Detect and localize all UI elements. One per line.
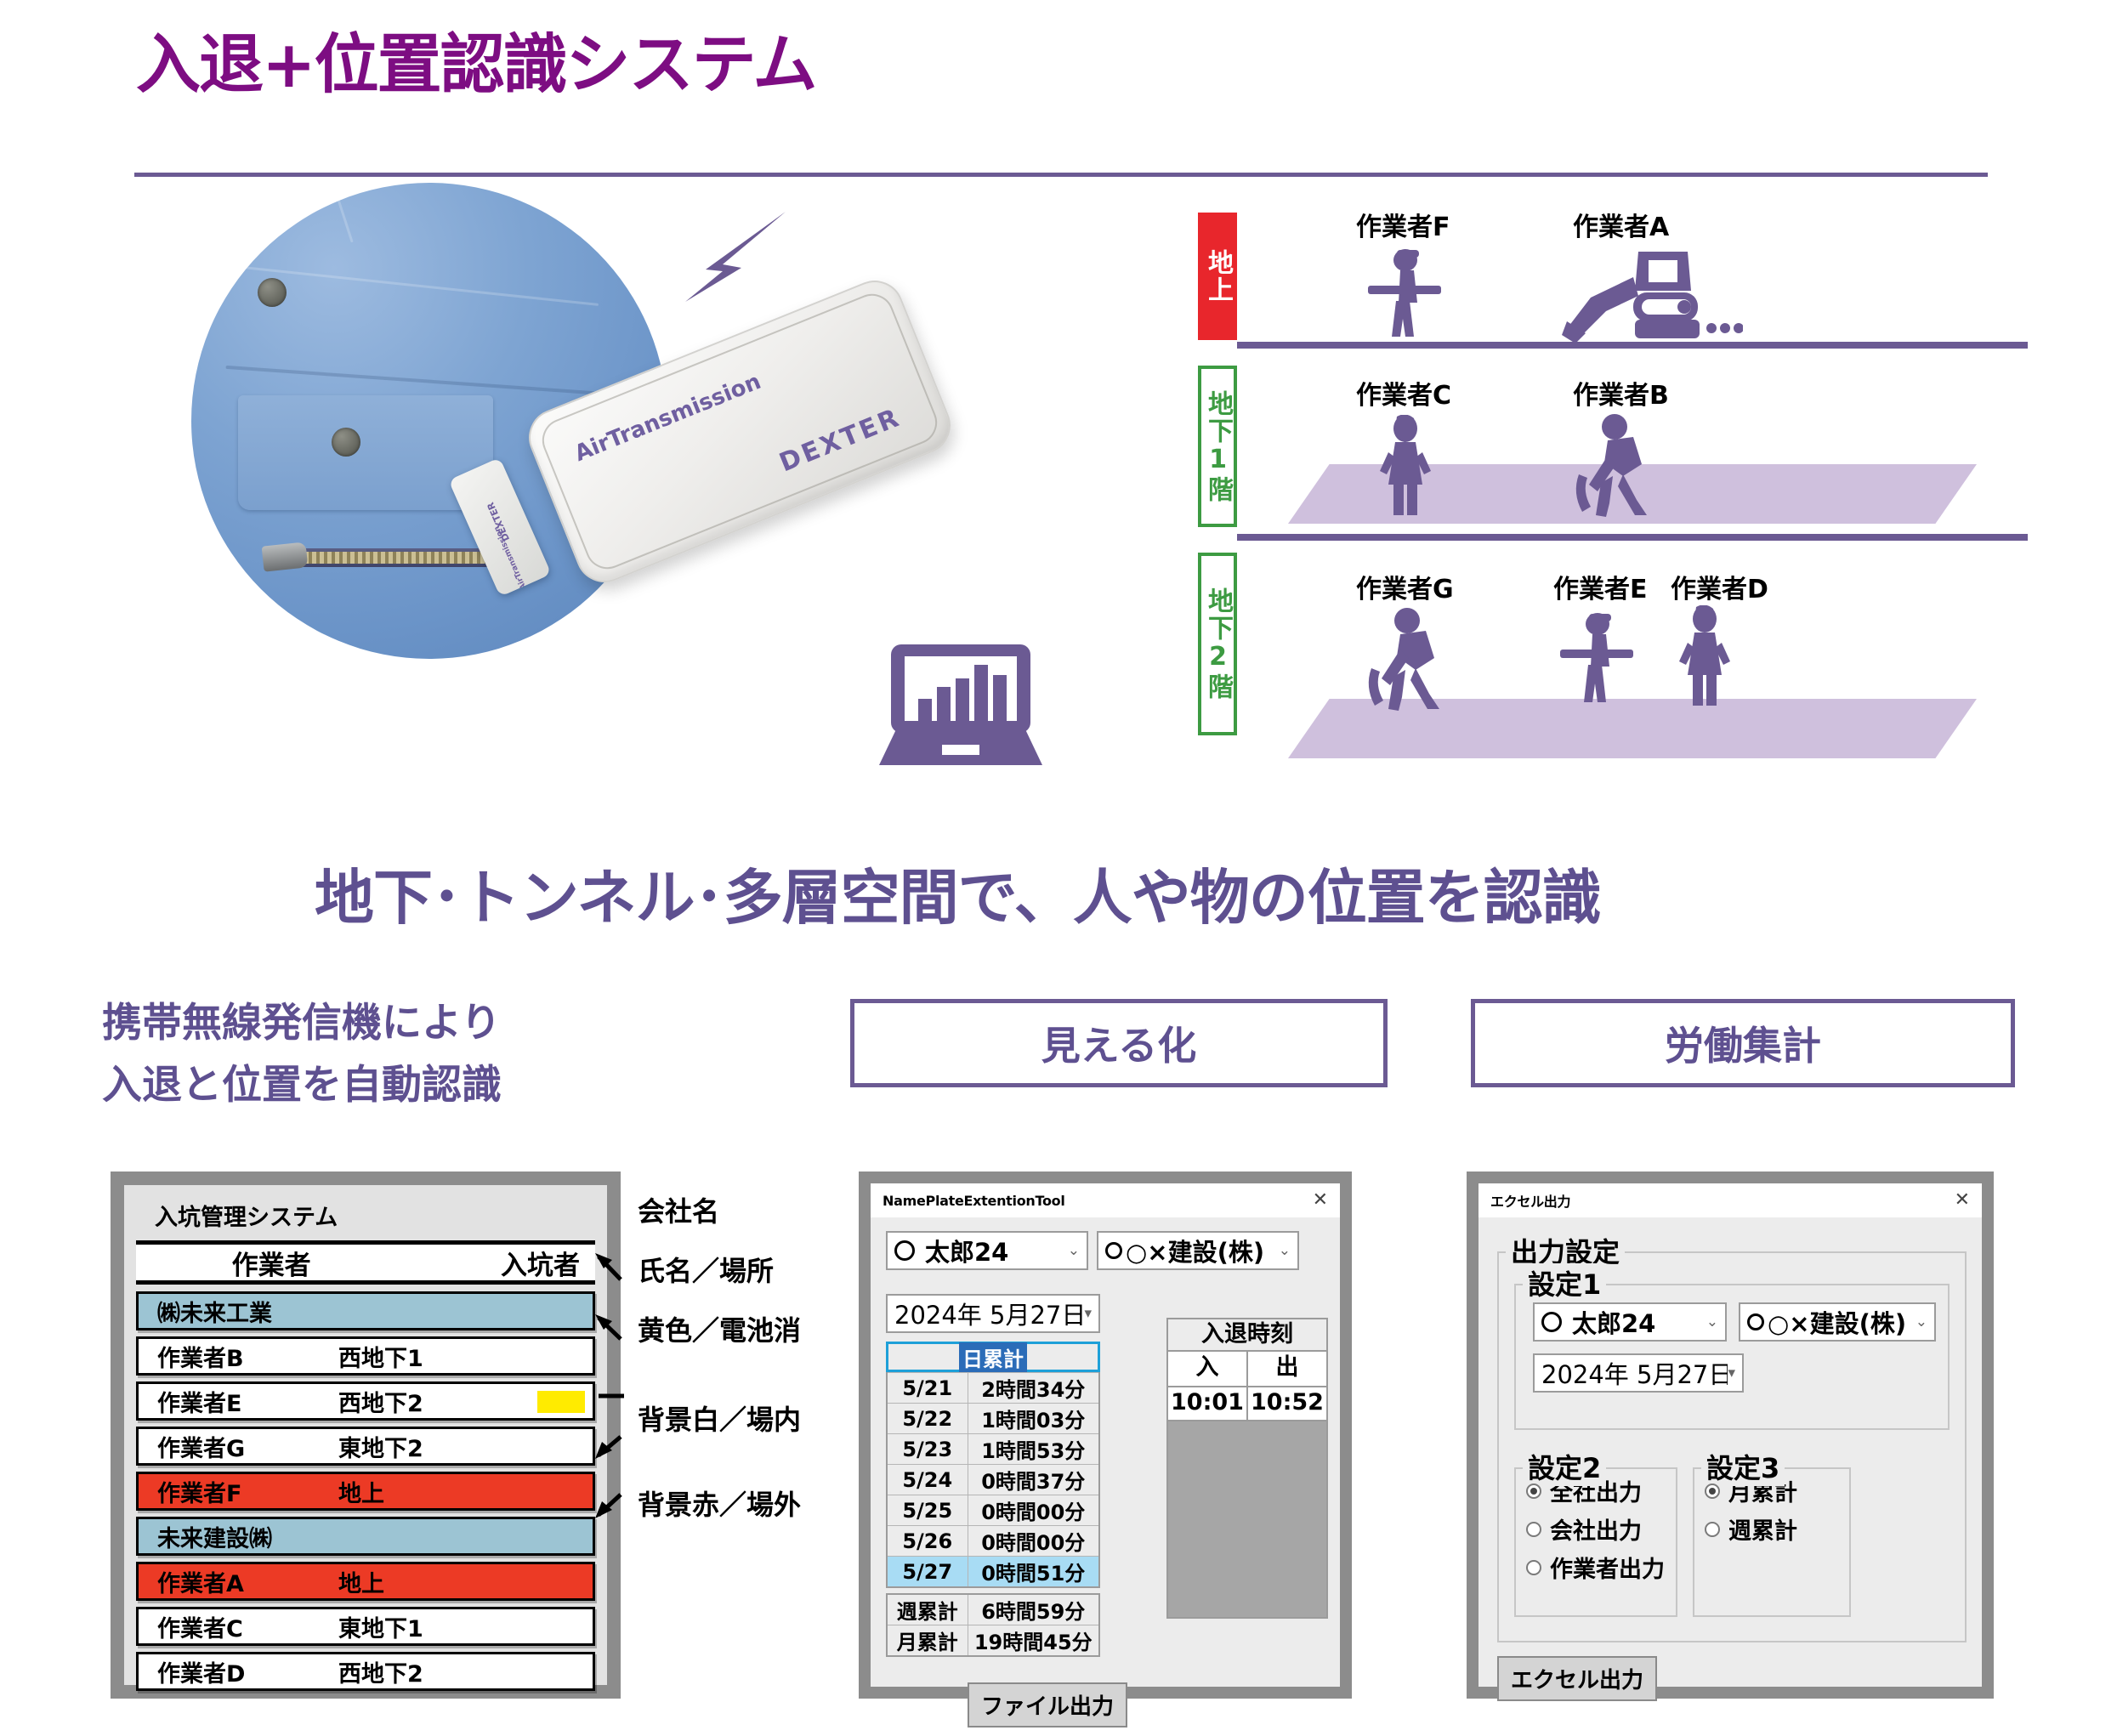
worker-label-d: 作業者D: [1671, 568, 1768, 605]
worker-name: 作業者C: [139, 1610, 338, 1643]
close-icon[interactable]: ✕: [1955, 1191, 1970, 1210]
worker-figure-g-icon: [1363, 605, 1465, 712]
left-section-heading: 携帯無線発信機により 入退と位置を自動認識: [102, 993, 502, 1117]
chevron-down-icon: ⌄: [1068, 1242, 1080, 1259]
io-col-in: 入: [1168, 1352, 1248, 1386]
value-cell: 2時間34分: [968, 1373, 1099, 1404]
company-name: 未来建設㈱: [139, 1520, 272, 1553]
list-item[interactable]: 5/212時間34分: [887, 1373, 1099, 1404]
close-icon[interactable]: ✕: [1313, 1191, 1328, 1210]
radio-option-company[interactable]: 会社出力: [1526, 1512, 1676, 1546]
day-cell: 5/23: [887, 1434, 968, 1465]
weekly-total-label: 週累計: [887, 1594, 968, 1625]
floor-divider-2: [1237, 534, 2028, 541]
worker-location: 西地下2: [338, 1385, 493, 1418]
radio-icon: [1526, 1522, 1541, 1537]
battery-empty-flag: [537, 1391, 585, 1413]
excel-company-value: ○×建設(株): [1768, 1304, 1916, 1340]
company-select-value: ○×建設(株): [1126, 1233, 1279, 1268]
day-cell: 5/22: [887, 1404, 968, 1434]
value-cell: 0時間51分: [968, 1557, 1099, 1588]
wireless-signal-bolt-icon: [627, 208, 789, 327]
table-row[interactable]: 未来建設㈱: [136, 1517, 595, 1556]
date-select[interactable]: 2024年 5月27日 ▾: [886, 1294, 1100, 1333]
main-caption: 地下･トンネル･多層空間で、人や物の位置を認識: [315, 850, 1601, 936]
worker-figure-e-icon: [1552, 612, 1645, 707]
tag-air-label: AirTransmission: [486, 509, 536, 597]
group-setting2-label: 設定2: [1523, 1447, 1606, 1486]
group-setting2: 設定2 全社出力 会社出力 作業者出力: [1514, 1467, 1677, 1617]
nameplate-tool-dialog: NamePlateExtentionTool ✕ 太郎24 ⌄ ○×建設(株) …: [859, 1172, 1352, 1699]
left-heading-line1: 携帯無線発信機により: [102, 993, 502, 1055]
worker-location: 西地下2: [338, 1655, 493, 1688]
list-item[interactable]: 5/221時間03分: [887, 1404, 1099, 1434]
entry-header-worker: 作業者: [141, 1244, 401, 1282]
entry-header-entrant: 入坑者: [401, 1244, 590, 1282]
value-cell: 0時間00分: [968, 1526, 1099, 1557]
table-row[interactable]: 作業者F 地上: [136, 1472, 595, 1511]
radio-circle-icon: [1541, 1312, 1562, 1332]
io-in-value: 10:01: [1168, 1387, 1248, 1420]
worker-select-value: 太郎24: [925, 1233, 1068, 1268]
file-output-button[interactable]: ファイル出力: [968, 1682, 1127, 1727]
excel-date-select[interactable]: 2024年 5月27日 ▾: [1533, 1353, 1744, 1393]
list-item[interactable]: 5/240時間37分: [887, 1465, 1099, 1495]
worker-select[interactable]: 太郎24 ⌄: [886, 1231, 1088, 1270]
day-cell: 5/27: [887, 1557, 968, 1588]
radio-label: 会社出力: [1550, 1512, 1642, 1546]
chevron-down-icon: ⌄: [1916, 1313, 1927, 1330]
annotation-company-name: 会社名: [638, 1190, 719, 1229]
radio-icon: [1526, 1484, 1541, 1499]
io-empty-area: [1166, 1421, 1328, 1619]
entry-management-panel: 入坑管理システム 作業者 入坑者 ㈱未来工業 作業者B 西地下1 作業者E 西地…: [111, 1172, 621, 1699]
table-row[interactable]: 作業者A 地上: [136, 1562, 595, 1601]
group-setting1: 設定1 太郎24 ⌄ ○×建設(株) ⌄: [1514, 1284, 1950, 1430]
section-box-visualization: 見える化: [850, 999, 1388, 1087]
worker-figure-b-icon: [1570, 411, 1672, 519]
excel-export-button[interactable]: エクセル出力: [1497, 1656, 1657, 1701]
group-setting1-label: 設定1: [1523, 1263, 1606, 1302]
nameplate-title-bar: NamePlateExtentionTool ✕: [871, 1183, 1340, 1217]
table-row[interactable]: 作業者C 東地下1: [136, 1607, 595, 1646]
radio-circle-icon: [894, 1240, 915, 1261]
monthly-total-label: 月累計: [887, 1625, 968, 1657]
day-cell: 5/21: [887, 1373, 968, 1404]
list-item[interactable]: 5/250時間00分: [887, 1495, 1099, 1526]
annotation-red-outside: 背景赤／場外: [638, 1484, 801, 1523]
laptop-chart-icon: [859, 638, 1063, 774]
daily-header-label: 日累計: [959, 1342, 1027, 1372]
worker-figure-d-icon: [1662, 605, 1747, 709]
value-cell: 0時間37分: [968, 1465, 1099, 1495]
list-item[interactable]: 5/260時間00分: [887, 1526, 1099, 1557]
excel-worker-value: 太郎24: [1572, 1304, 1706, 1340]
company-select[interactable]: ○×建設(株) ⌄: [1097, 1231, 1299, 1270]
device-brand-label: DEXTER: [775, 403, 905, 479]
section-box-labor-totals: 労働集計: [1471, 999, 2015, 1087]
worker-label-b: 作業者B: [1573, 374, 1669, 411]
worker-name: 作業者A: [139, 1565, 338, 1598]
worker-name: 作業者D: [139, 1655, 338, 1688]
company-name: ㈱未来工業: [139, 1295, 272, 1328]
excel-title-bar: エクセル出力 ✕: [1478, 1183, 1982, 1217]
table-row[interactable]: 作業者G 東地下2: [136, 1427, 595, 1466]
totals-row: 週累計6時間59分: [887, 1594, 1099, 1625]
entry-table-header: 作業者 入坑者: [136, 1240, 595, 1285]
worker-label-f: 作業者F: [1356, 206, 1450, 243]
floor-tag-ground: 地上: [1198, 213, 1237, 340]
chevron-down-icon: ▾: [1728, 1364, 1735, 1381]
worker-label-a: 作業者A: [1573, 206, 1669, 243]
radio-circle-icon: [1747, 1313, 1764, 1330]
small-transmitter-tag: DEXTER AirTransmission: [448, 457, 551, 597]
io-out-value: 10:52: [1248, 1387, 1326, 1420]
table-row[interactable]: ㈱未来工業: [136, 1291, 595, 1330]
value-cell: 1時間53分: [968, 1434, 1099, 1465]
floor-tag-b2: 地下2階: [1198, 553, 1237, 735]
daily-totals-table[interactable]: 日累計 5/212時間34分 5/221時間03分 5/231時間53分 5/2…: [886, 1342, 1100, 1657]
worker-figure-f-icon: [1356, 248, 1458, 342]
radio-icon: [1705, 1484, 1720, 1499]
radio-circle-icon: [1105, 1242, 1122, 1259]
worker-label-e: 作業者E: [1553, 568, 1648, 605]
worker-name: 作業者F: [139, 1475, 338, 1508]
excavator-icon: [1560, 245, 1743, 345]
worker-location: 東地下2: [338, 1430, 493, 1463]
radio-label: 作業者出力: [1550, 1551, 1665, 1584]
annotation-yellow-battery: 黄色／電池消: [638, 1309, 801, 1348]
worker-label-c: 作業者C: [1356, 374, 1451, 411]
zipper-pull: [262, 542, 309, 571]
worker-name: 作業者E: [139, 1385, 338, 1418]
list-item-selected[interactable]: 5/270時間51分: [887, 1557, 1099, 1588]
value-cell: 1時間03分: [968, 1404, 1099, 1434]
group-setting3-label: 設定3: [1701, 1447, 1785, 1486]
snap-button-top: [258, 278, 287, 307]
worker-name: 作業者B: [139, 1340, 338, 1373]
day-cell: 5/26: [887, 1526, 968, 1557]
date-select-value: 2024年 5月27日: [894, 1296, 1084, 1331]
weekly-total-value: 6時間59分: [968, 1594, 1099, 1625]
radio-label: 週累計: [1728, 1512, 1797, 1546]
left-heading-line2: 入退と位置を自動認識: [102, 1055, 502, 1117]
entry-system-title: 入坑管理システム: [136, 1194, 595, 1240]
day-cell: 5/24: [887, 1465, 968, 1495]
radio-icon: [1705, 1522, 1720, 1537]
totals-row: 月累計19時間45分: [887, 1625, 1099, 1657]
group-output-settings: 出力設定 設定1 太郎24 ⌄ ○×建設(株): [1497, 1251, 1967, 1642]
worker-figure-c-icon: [1363, 415, 1448, 519]
page-title: 入退+位置認識システム: [136, 32, 815, 97]
value-cell: 0時間00分: [968, 1495, 1099, 1526]
group-setting3: 設定3 月累計 週累計: [1693, 1467, 1851, 1617]
chevron-down-icon: ⌄: [1706, 1313, 1718, 1330]
excel-worker-select[interactable]: 太郎24 ⌄: [1533, 1302, 1727, 1342]
excel-output-dialog: エクセル出力 ✕ 出力設定 設定1 太郎24 ⌄: [1467, 1172, 1994, 1699]
entry-table-rows: ㈱未来工業 作業者B 西地下1 作業者E 西地下2 作業者G 東地下2 作業者F: [136, 1291, 595, 1691]
io-table-title: 入退時刻: [1166, 1318, 1328, 1352]
annotation-white-inside: 背景白／場内: [638, 1398, 801, 1438]
daily-totals-header: 日累計: [886, 1342, 1100, 1372]
io-time-table: 入退時刻 入 出 10:01 10:52: [1166, 1318, 1328, 1619]
annotation-name-location: 氏名／場所: [638, 1250, 774, 1289]
title-divider: [134, 173, 1988, 177]
radio-option-worker[interactable]: 作業者出力: [1526, 1551, 1676, 1584]
worker-location: 地上: [338, 1475, 493, 1508]
table-row[interactable]: 作業者E 西地下2: [136, 1381, 595, 1421]
excel-window-title: エクセル出力: [1490, 1190, 1570, 1211]
worker-location: 地上: [338, 1565, 493, 1598]
table-row[interactable]: 作業者B 西地下1: [136, 1336, 595, 1376]
monthly-total-value: 19時間45分: [968, 1625, 1099, 1657]
chevron-down-icon: ▾: [1084, 1305, 1092, 1322]
snap-button-bottom: [332, 428, 360, 457]
floor-diagram: 地上 地下1階 地下2階 作業者F 作業者A: [1186, 213, 2036, 833]
worker-name: 作業者G: [139, 1430, 338, 1463]
list-item[interactable]: 5/231時間53分: [887, 1434, 1099, 1465]
nameplate-window-title: NamePlateExtentionTool: [883, 1193, 1065, 1209]
io-col-out: 出: [1248, 1352, 1326, 1386]
excel-date-value: 2024年 5月27日: [1541, 1355, 1728, 1391]
excel-company-select[interactable]: ○×建設(株) ⌄: [1739, 1302, 1936, 1342]
worker-location: 東地下1: [338, 1610, 493, 1643]
radio-option-weekly[interactable]: 週累計: [1705, 1512, 1849, 1546]
worker-label-g: 作業者G: [1356, 568, 1454, 605]
worker-location: 西地下1: [338, 1340, 493, 1373]
day-cell: 5/25: [887, 1495, 968, 1526]
radio-icon: [1526, 1560, 1541, 1575]
floor-tag-b1: 地下1階: [1198, 366, 1237, 527]
chevron-down-icon: ⌄: [1279, 1242, 1291, 1259]
table-row[interactable]: 作業者D 西地下2: [136, 1652, 595, 1691]
